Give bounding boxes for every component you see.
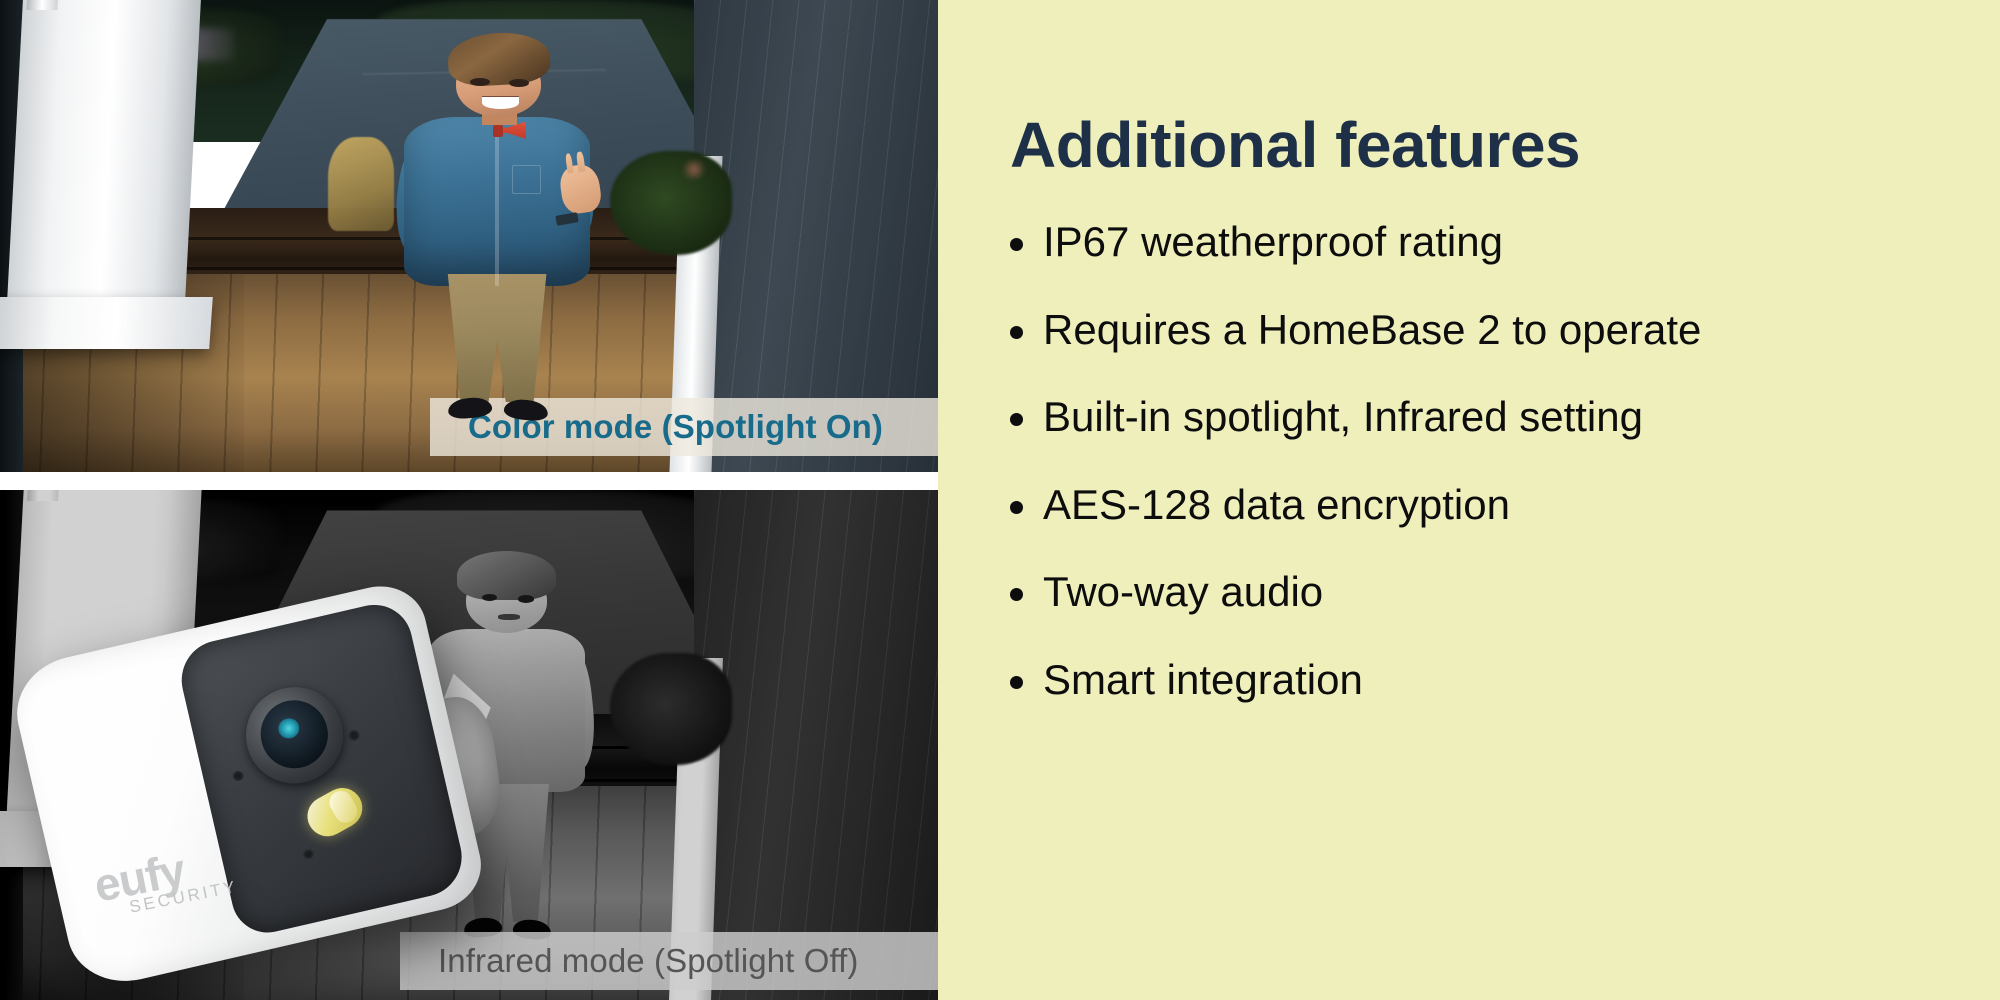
shrub-bloom bbox=[680, 160, 708, 179]
infrared-mode-caption: Infrared mode (Spotlight Off) bbox=[400, 932, 938, 990]
hair bbox=[447, 30, 552, 87]
siding-wall-right bbox=[694, 490, 938, 1000]
shirt-placket bbox=[495, 129, 499, 285]
photo-column: Color mode (Spotlight On) bbox=[0, 0, 938, 1000]
eye-left bbox=[470, 78, 490, 86]
feature-label: IP67 weatherproof rating bbox=[1043, 217, 1940, 267]
list-item: Built-in spotlight, Infrared setting bbox=[1010, 392, 1940, 442]
bullet-icon bbox=[1010, 676, 1023, 689]
visitor-person bbox=[375, 33, 619, 434]
additional-features-panel: Additional features IP67 weatherproof ra… bbox=[938, 0, 2000, 1000]
feature-slide: Color mode (Spotlight On) bbox=[0, 0, 2000, 1000]
list-item: Requires a HomeBase 2 to operate bbox=[1010, 305, 1940, 355]
hair bbox=[457, 551, 556, 600]
page-title: Additional features bbox=[1010, 112, 1940, 179]
feature-label: Two-way audio bbox=[1043, 567, 1940, 617]
eye-right bbox=[518, 595, 534, 602]
column-cap bbox=[27, 0, 58, 10]
color-mode-photo: Color mode (Spotlight On) bbox=[0, 0, 938, 472]
list-item: Smart integration bbox=[1010, 655, 1940, 705]
column-base bbox=[0, 297, 213, 349]
shrub bbox=[610, 151, 732, 255]
bullet-icon bbox=[1010, 588, 1023, 601]
list-item: IP67 weatherproof rating bbox=[1010, 217, 1940, 267]
feature-label: Requires a HomeBase 2 to operate bbox=[1043, 305, 1940, 355]
feature-label: AES-128 data encryption bbox=[1043, 480, 1940, 530]
bullet-icon bbox=[1010, 501, 1023, 514]
bullet-icon bbox=[1010, 413, 1023, 426]
feature-label: Built-in spotlight, Infrared setting bbox=[1043, 392, 1940, 442]
porch-column bbox=[5, 0, 201, 340]
bullet-icon bbox=[1010, 238, 1023, 251]
bullet-icon bbox=[1010, 326, 1023, 339]
infrared-mode-photo: eufy SECURITY Infrared mode (Spotlight O… bbox=[0, 490, 938, 1000]
khaki-pants bbox=[443, 274, 550, 402]
caption-label: Infrared mode (Spotlight Off) bbox=[438, 942, 859, 980]
feature-label: Smart integration bbox=[1043, 655, 1940, 705]
list-item: Two-way audio bbox=[1010, 567, 1940, 617]
bow-tie-knot bbox=[493, 125, 503, 137]
list-item: AES-128 data encryption bbox=[1010, 480, 1940, 530]
shirt-pocket bbox=[512, 165, 541, 193]
column-cap bbox=[28, 490, 59, 501]
mouth bbox=[498, 614, 521, 620]
feature-list: IP67 weatherproof rating Requires a Home… bbox=[1010, 217, 1940, 704]
